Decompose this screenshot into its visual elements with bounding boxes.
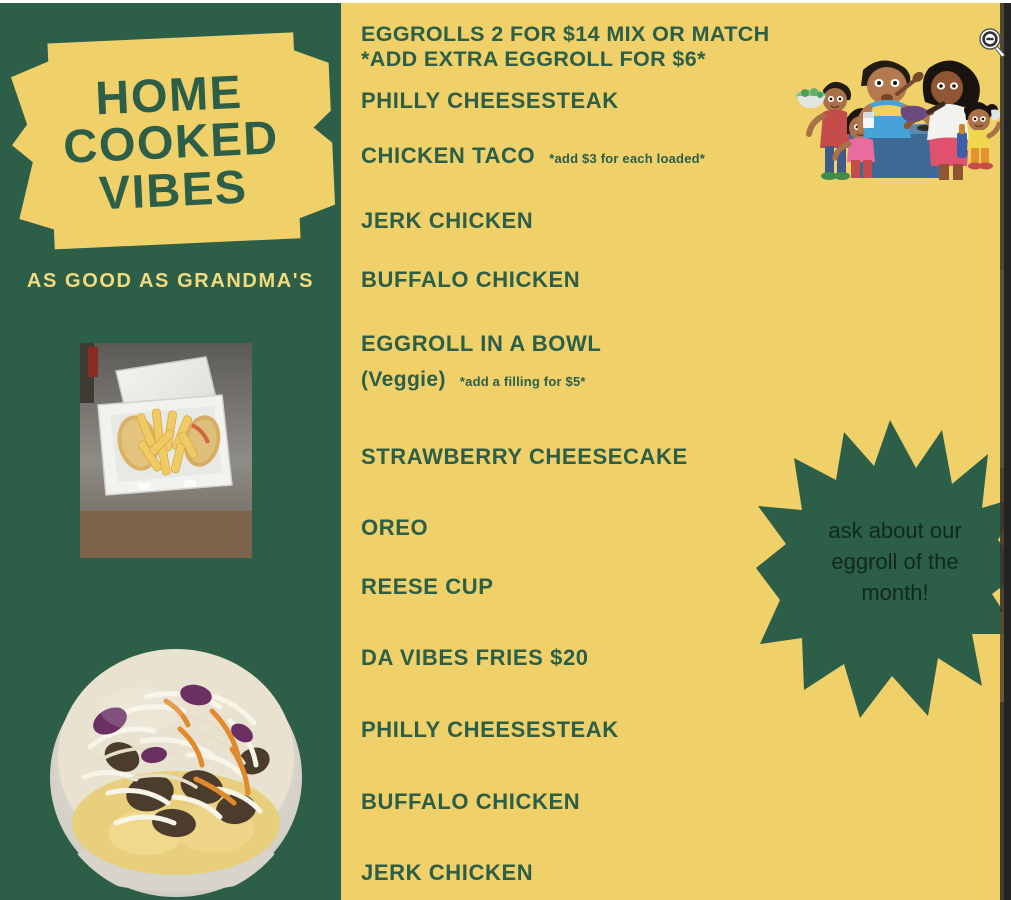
menu-header-line-2: *ADD EXTRA EGGROLL FOR $6* <box>361 47 706 72</box>
menu-item-strawberry-cheesecake: STRAWBERRY CHEESECAKE <box>361 444 688 470</box>
menu-item-label: STRAWBERRY CHEESECAKE <box>361 444 688 470</box>
menu-item-label: PHILLY CHEESESTEAK <box>361 717 619 743</box>
menu-item-reese-cup: REESE CUP <box>361 574 494 600</box>
eggroll-of-the-month-badge-shape <box>756 418 1011 720</box>
menu-item-label: JERK CHICKEN <box>361 208 533 234</box>
da-vibes-fries-heading: DA VIBES FRIES $20 <box>361 645 589 671</box>
menu-item-eggroll-in-a-bowl: EGGROLL IN A BOWL <box>361 331 601 357</box>
eggrolls-deal-label: EGGROLLS 2 FOR $14 MIX OR MATCH <box>361 22 770 47</box>
zoom-out-icon[interactable] <box>978 27 1008 57</box>
menu-item-fries-philly-cheesesteak: PHILLY CHEESESTEAK <box>361 717 619 743</box>
extra-eggroll-label: *ADD EXTRA EGGROLL FOR $6* <box>361 47 706 72</box>
menu-item-jerk-chicken-eggroll: JERK CHICKEN <box>361 208 533 234</box>
menu-item-label: PHILLY CHEESESTEAK <box>361 88 619 114</box>
menu-item-note: *add a filling for $5* <box>460 374 586 389</box>
top-hairline <box>0 0 1011 3</box>
menu-item-note: *add $3 for each loaded* <box>549 151 705 166</box>
menu-item-chicken-taco-eggroll: CHICKEN TACO *add $3 for each loaded* <box>361 143 705 169</box>
menu-item-sublabel: (Veggie) <box>361 368 446 392</box>
menu-item-label: OREO <box>361 515 428 541</box>
menu-item-label: JERK CHICKEN <box>361 860 533 886</box>
menu-item-fries-buffalo-chicken: BUFFALO CHICKEN <box>361 789 580 815</box>
page-edge-gutter <box>1004 0 1011 900</box>
menu-item-label: BUFFALO CHICKEN <box>361 789 580 815</box>
menu-section-da-vibes-fries: DA VIBES FRIES $20 <box>361 645 589 671</box>
menu-item-label: CHICKEN TACO <box>361 143 535 169</box>
menu-item-label: BUFFALO CHICKEN <box>361 267 580 293</box>
menu-item-eggroll-in-a-bowl-veggie: (Veggie) *add a filling for $5* <box>361 368 586 392</box>
menu-item-fries-jerk-chicken: JERK CHICKEN <box>361 860 533 886</box>
menu-header-line-1: EGGROLLS 2 FOR $14 MIX OR MATCH <box>361 22 770 47</box>
eggroll-fries-photo <box>80 343 252 558</box>
menu-item-oreo: OREO <box>361 515 428 541</box>
logo-banner-shape <box>6 26 336 256</box>
menu-item-philly-cheesesteak-eggroll: PHILLY CHEESESTEAK <box>361 88 619 114</box>
family-cooking-illustration <box>789 46 1001 186</box>
menu-item-label: REESE CUP <box>361 574 494 600</box>
loaded-fries-photo <box>46 637 306 900</box>
brand-tagline: AS GOOD AS GRANDMA'S <box>0 270 341 293</box>
menu-item-buffalo-chicken-eggroll: BUFFALO CHICKEN <box>361 267 580 293</box>
menu-item-label: EGGROLL IN A BOWL <box>361 331 601 357</box>
menu-flyer: HOME COOKED VIBES AS GOOD AS GRANDMA'S <box>0 0 1011 900</box>
